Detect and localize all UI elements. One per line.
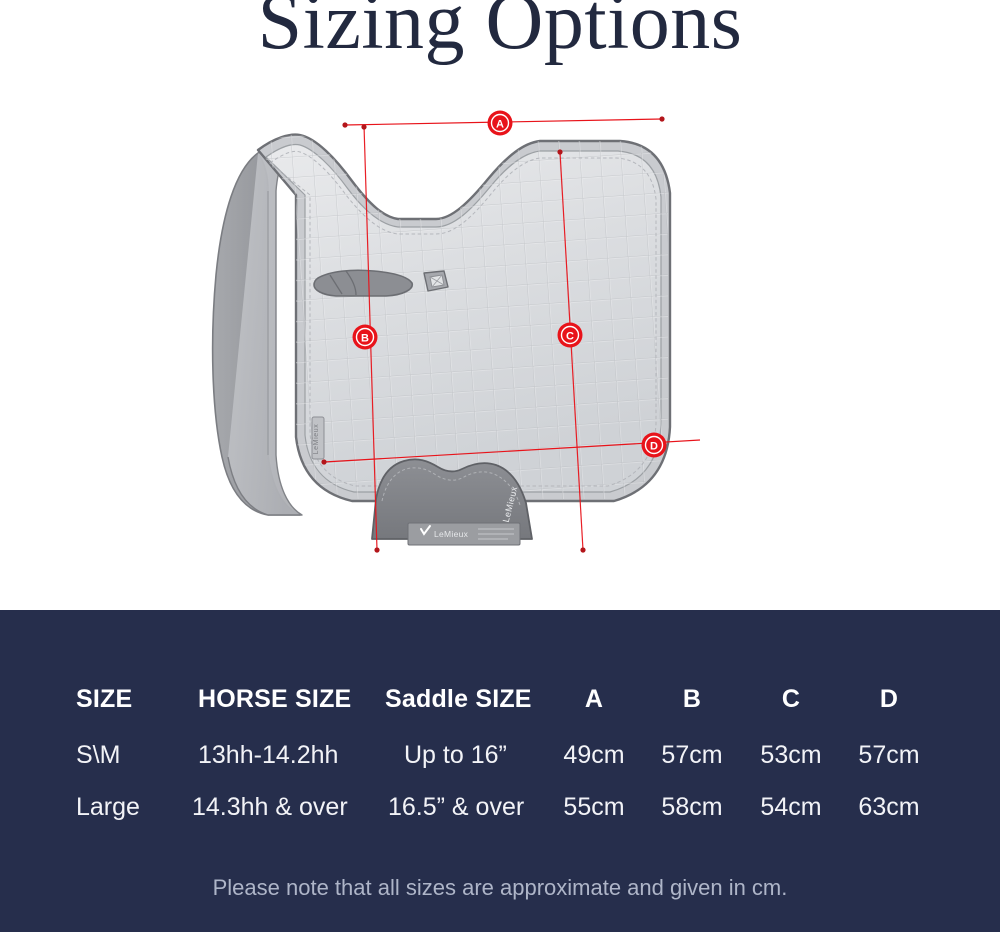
size-chart-panel: SIZE HORSE SIZE Saddle SIZE A B C D S\M … [0, 610, 1000, 932]
cell-d: 57cm [855, 728, 923, 782]
table-header-row: SIZE HORSE SIZE Saddle SIZE A B C D [0, 672, 1000, 726]
marker-b-label: B [361, 333, 369, 345]
marker-d: D [642, 433, 667, 458]
marker-c-label: C [566, 331, 574, 343]
sizing-options-page: Sizing Options [0, 0, 1000, 932]
pad-bottom-panel: LeMieux LeMieux [372, 459, 532, 545]
column-header-d: D [855, 672, 923, 726]
page-title: Sizing Options [0, 0, 1000, 64]
cell-size: Large [76, 780, 140, 834]
cell-horse-size: 14.3hh & over [192, 780, 348, 834]
cell-a: 55cm [560, 780, 628, 834]
marker-a: A [488, 111, 513, 136]
column-header-b: B [658, 672, 726, 726]
table-row: S\M 13hh-14.2hh Up to 16” 49cm 57cm 53cm… [0, 728, 1000, 782]
column-header-saddle-size: Saddle SIZE [385, 672, 532, 726]
cell-size: S\M [76, 728, 120, 782]
pad-keeper-hardware [424, 271, 448, 291]
column-header-size: SIZE [76, 672, 132, 726]
cell-c: 54cm [757, 780, 825, 834]
cell-d: 63cm [855, 780, 923, 834]
cell-saddle-size: Up to 16” [404, 728, 507, 782]
pad-body: LeMieux LeMieux LeMieux [250, 125, 690, 545]
cell-horse-size: 13hh-14.2hh [198, 728, 338, 782]
marker-d-label: D [650, 441, 658, 453]
column-header-a: A [560, 672, 628, 726]
cell-saddle-size: 16.5” & over [388, 780, 524, 834]
pad-care-label: LeMieux [408, 523, 520, 545]
cell-a: 49cm [560, 728, 628, 782]
table-row: Large 14.3hh & over 16.5” & over 55cm 58… [0, 780, 1000, 834]
marker-b: B [353, 325, 378, 350]
pad-side-label-tab: LeMieux [312, 417, 324, 459]
saddle-pad-diagram: LeMieux LeMieux LeMieux [0, 95, 1000, 610]
cell-b: 57cm [658, 728, 726, 782]
pad-left-flap [213, 140, 302, 515]
cell-b: 58cm [658, 780, 726, 834]
cell-c: 53cm [757, 728, 825, 782]
svg-text:LeMieux: LeMieux [434, 529, 469, 539]
svg-text:LeMieux: LeMieux [313, 424, 320, 455]
marker-a-label: A [496, 119, 504, 131]
marker-c: C [558, 323, 583, 348]
title-area: Sizing Options [0, 0, 1000, 100]
size-note: Please note that all sizes are approxima… [0, 875, 1000, 901]
column-header-c: C [757, 672, 825, 726]
column-header-horse-size: HORSE SIZE [198, 672, 351, 726]
pad-front-strap [314, 270, 412, 296]
